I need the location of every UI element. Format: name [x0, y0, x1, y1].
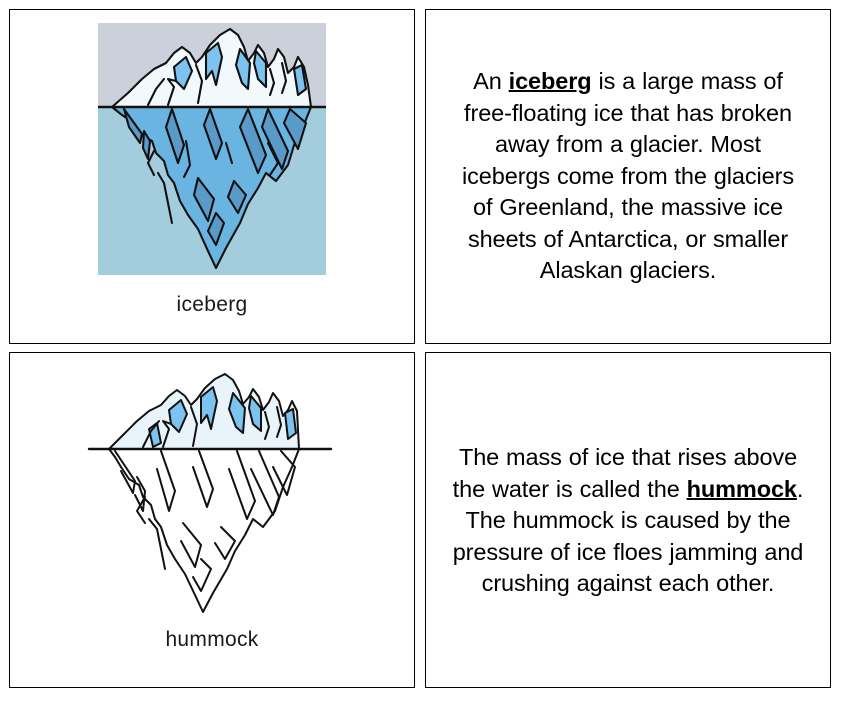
iceberg-picture-card[interactable]: iceberg: [9, 9, 415, 344]
definition-part-1: An: [473, 68, 508, 94]
hummock-illustration: [87, 371, 337, 616]
hummock-label: hummock: [165, 628, 258, 652]
hummock-underwater-body: [109, 449, 299, 612]
hummock-definition-text: The mass of ice that rises above the wat…: [452, 442, 804, 600]
hummock-facet-5: [285, 409, 296, 439]
keyword-hummock: hummock: [687, 476, 797, 502]
nomenclature-card-sheet: iceberg An iceberg is a large mass of fr…: [0, 0, 843, 705]
iceberg-definition-text: An iceberg is a large mass of free-float…: [452, 66, 804, 287]
card-grid: iceberg An iceberg is a large mass of fr…: [9, 9, 834, 688]
keyword-iceberg: iceberg: [509, 68, 592, 94]
definition-part-2: is a large mass of free-floating ice tha…: [462, 68, 794, 283]
hummock-definition-card[interactable]: The mass of ice that rises above the wat…: [425, 352, 831, 688]
hummock-picture-card[interactable]: hummock: [9, 352, 415, 688]
iceberg-illustration: [98, 23, 326, 275]
iceberg-definition-card[interactable]: An iceberg is a large mass of free-float…: [425, 9, 831, 344]
iceberg-label: iceberg: [177, 293, 248, 317]
